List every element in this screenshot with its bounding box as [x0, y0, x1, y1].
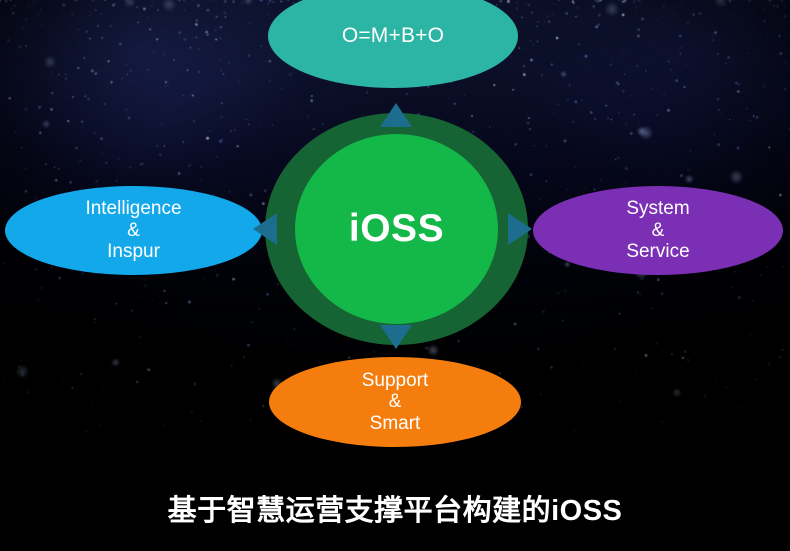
node-bottom-line-2: &: [362, 391, 429, 413]
node-top-line-1: O=M+B+O: [342, 24, 444, 48]
node-right-line-2: &: [626, 220, 689, 242]
hub-ioss[interactable]: iOSS: [265, 113, 528, 345]
node-top-label: O=M+B+O: [342, 24, 444, 48]
arrow-left-icon: [253, 213, 277, 245]
arrow-up-icon: [380, 103, 412, 127]
node-bottom-line-1: Support: [362, 370, 429, 392]
node-right-line-3: Service: [626, 241, 689, 263]
node-left-line-1: Intelligence: [85, 198, 181, 220]
diagram-caption: 基于智慧运营支撑平台构建的iOSS: [0, 487, 790, 529]
node-bottom-label: Support & Smart: [362, 370, 429, 435]
slide-canvas: O=M+B+O Intelligence & Inspur System & S…: [0, 0, 790, 551]
hub-core: iOSS: [295, 134, 498, 324]
node-bottom-line-3: Smart: [362, 413, 429, 435]
node-left-line-2: &: [85, 220, 181, 242]
node-right-system-service[interactable]: System & Service: [533, 186, 783, 275]
node-left-label: Intelligence & Inspur: [85, 198, 181, 263]
arrow-down-icon: [380, 325, 412, 349]
arrow-right-icon: [508, 213, 532, 245]
node-left-intelligence-inspur[interactable]: Intelligence & Inspur: [5, 186, 262, 275]
node-right-label: System & Service: [626, 198, 689, 263]
node-left-line-3: Inspur: [85, 241, 181, 263]
hub-label: iOSS: [349, 207, 444, 251]
node-right-line-1: System: [626, 198, 689, 220]
node-bottom-support-smart[interactable]: Support & Smart: [269, 357, 521, 447]
node-top-omb[interactable]: O=M+B+O: [268, 0, 518, 88]
diagram-shapes: O=M+B+O Intelligence & Inspur System & S…: [0, 0, 790, 551]
